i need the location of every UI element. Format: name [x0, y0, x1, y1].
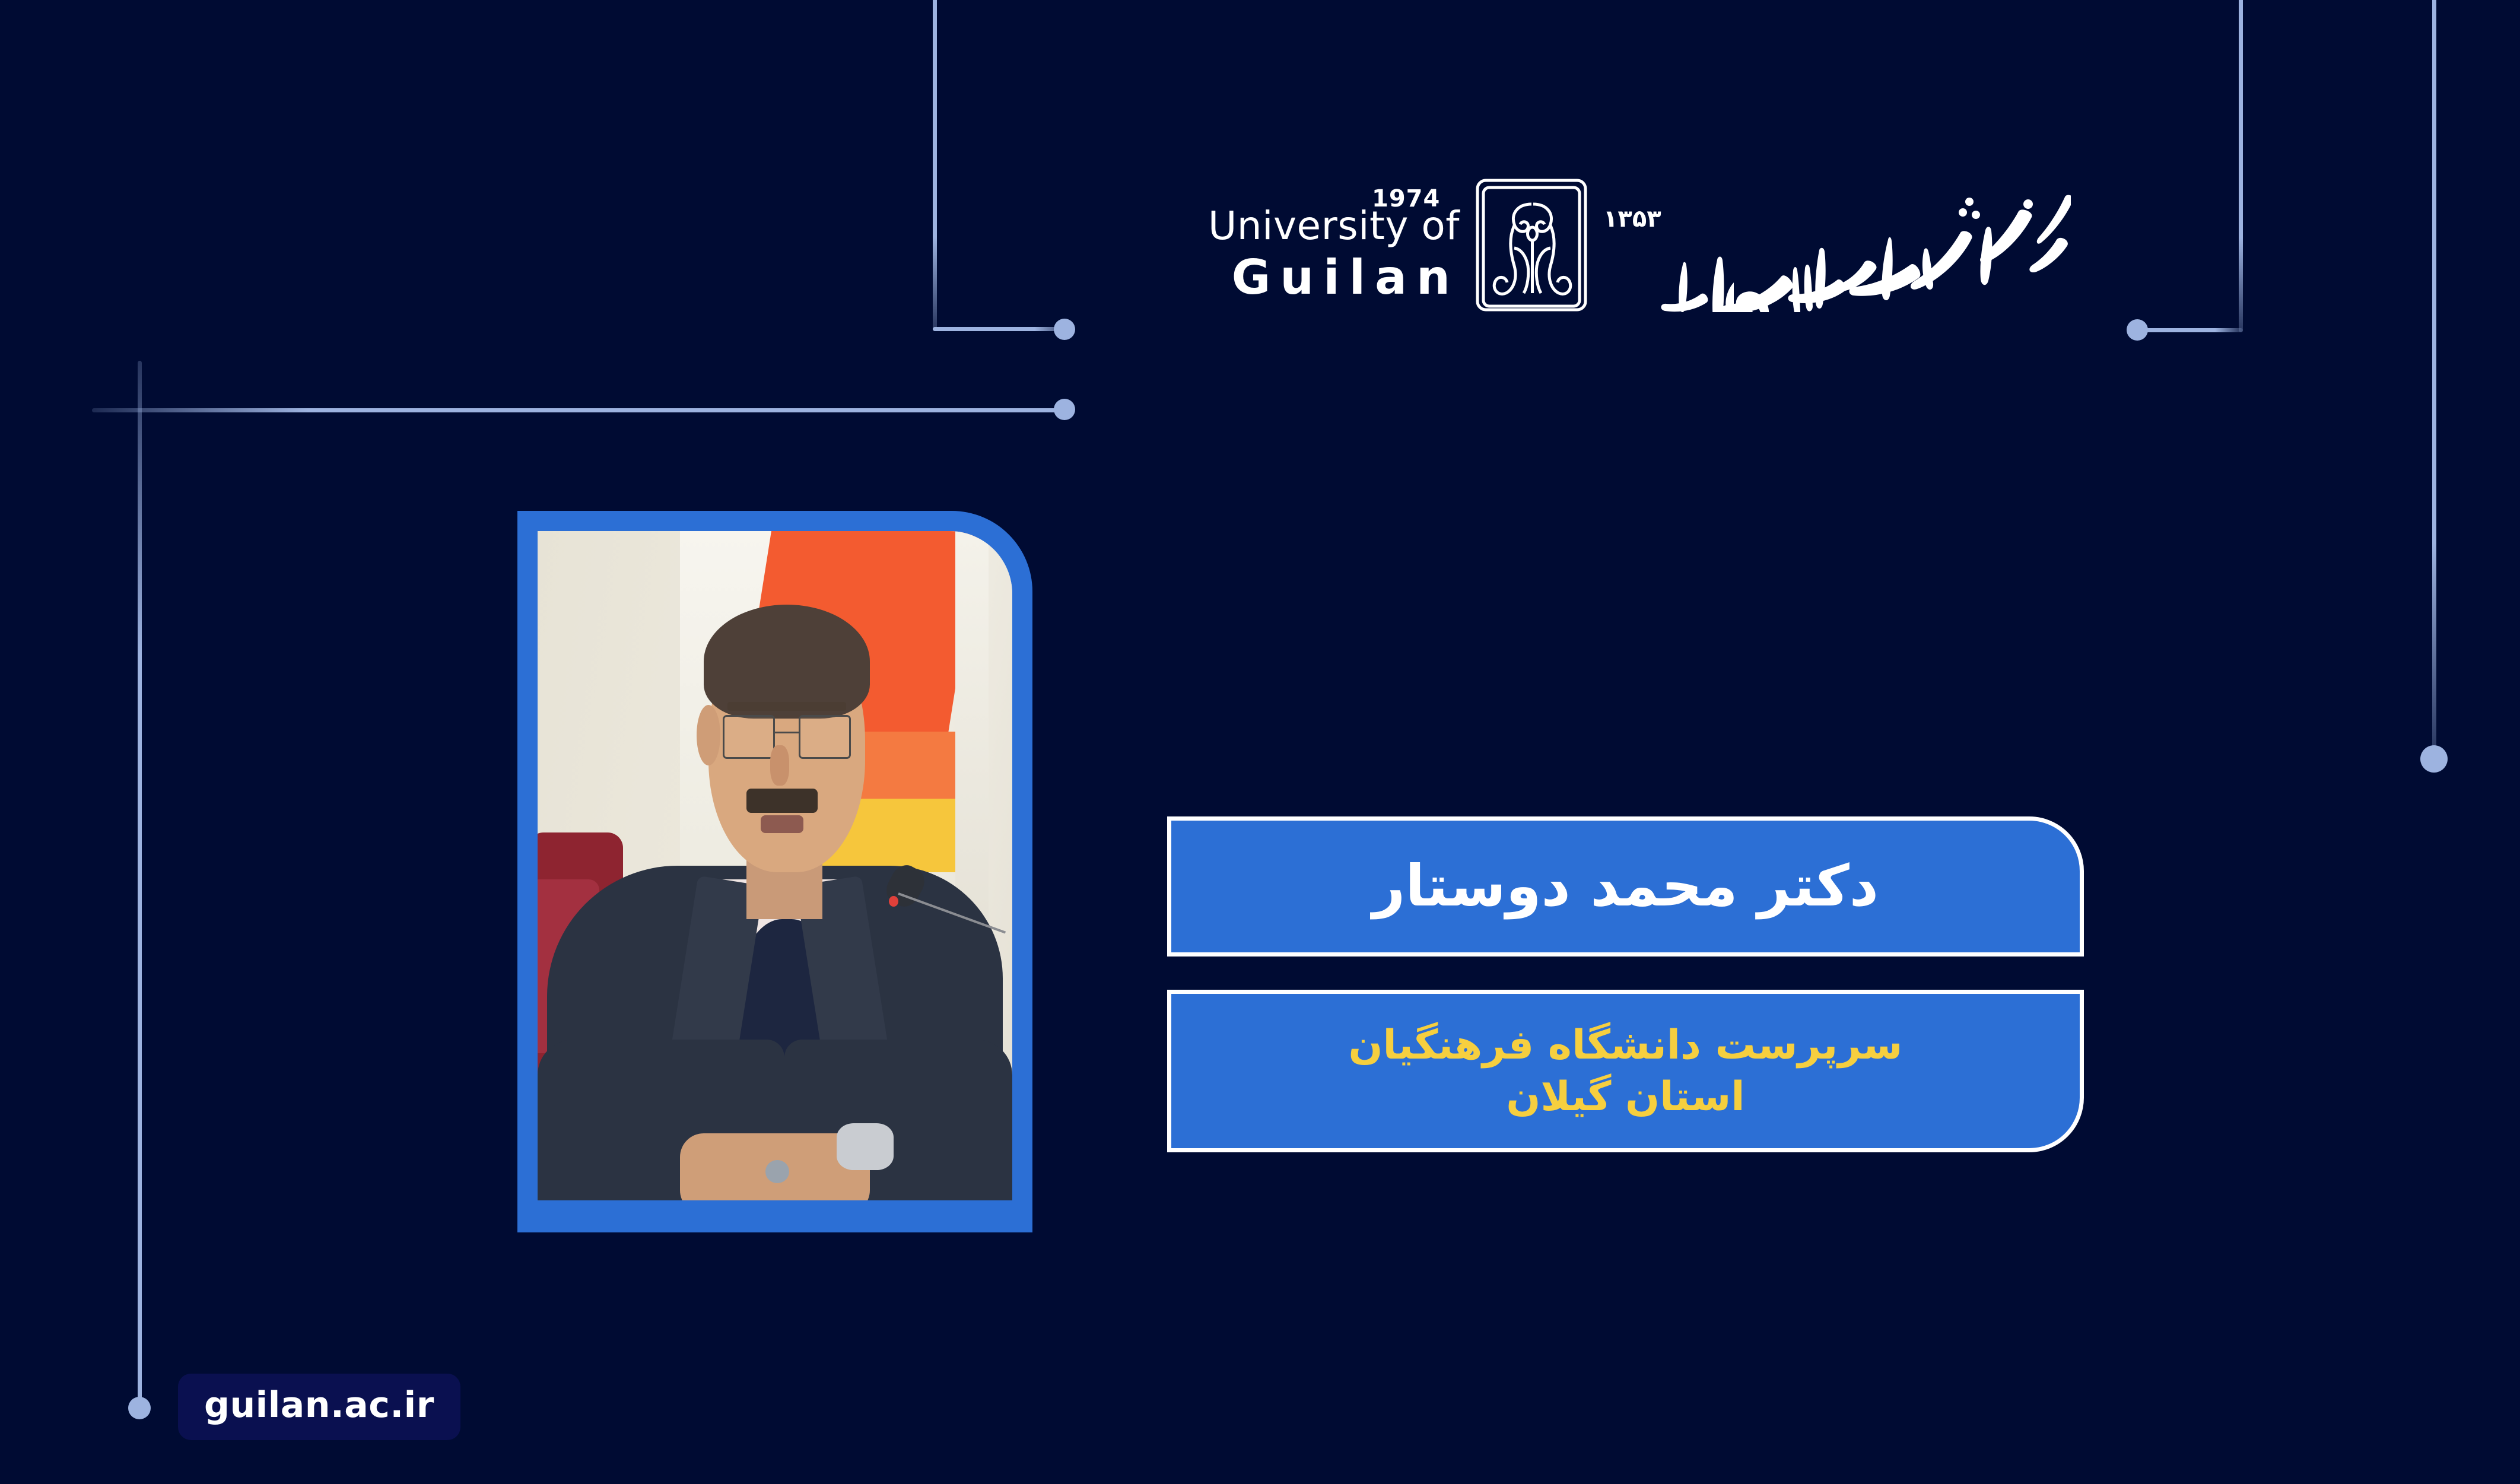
- photo-ear: [697, 705, 720, 765]
- photo-eyeglass-right: [799, 715, 851, 758]
- photo-eyeglass-left: [723, 715, 775, 758]
- logo-persian-name: [1655, 176, 2071, 312]
- photo-eyeglass-bridge: [775, 732, 799, 733]
- decor-line-top-right-horizontal: [2136, 328, 2243, 332]
- decor-dot-top-left: [1054, 319, 1075, 340]
- person-name: دکتر محمد دوستار: [1372, 855, 1879, 918]
- logo-english-name: University of Guilan: [1163, 206, 1460, 301]
- decor-dot-right-bottom: [2420, 745, 2448, 773]
- decor-dot-left-horizontal-end: [1054, 399, 1075, 420]
- person-title-banner: سرپرست دانشگاه فرهنگیان استان گیلان: [1167, 990, 2084, 1152]
- portrait-photo: [538, 531, 1012, 1200]
- decor-line-top-left-vertical: [933, 0, 937, 331]
- website-badge[interactable]: guilan.ac.ir: [178, 1374, 460, 1440]
- logo-english-line1: University of: [1163, 206, 1460, 246]
- photo-moustache: [746, 789, 818, 813]
- logo-year-persian: ۱۳۵۳: [1603, 205, 1661, 233]
- photo-microphone-indicator: [889, 896, 898, 907]
- decor-line-right-vertical: [2432, 0, 2436, 757]
- photo-wristwatch: [837, 1123, 894, 1170]
- person-title-line2: استان گیلان: [1506, 1071, 1744, 1123]
- portrait-photo-frame: [517, 511, 1032, 1232]
- person-name-banner: دکتر محمد دوستار: [1167, 816, 2084, 957]
- photo-mouth: [761, 815, 803, 832]
- decor-line-top-left-horizontal: [933, 327, 1070, 331]
- photo-ring: [765, 1160, 789, 1183]
- decor-line-left-horizontal: [92, 408, 1072, 412]
- decor-dot-left-bottom: [128, 1397, 151, 1419]
- university-logo: 1974 University of Guilan ۱۳۵۳: [1163, 190, 2089, 338]
- person-title-line1: سرپرست دانشگاه فرهنگیان: [1349, 1019, 1903, 1071]
- poster-canvas: 1974 University of Guilan ۱۳۵۳: [0, 0, 2520, 1484]
- decor-dot-top-right: [2127, 319, 2148, 341]
- decor-line-top-right-vertical: [2239, 0, 2243, 332]
- logo-english-line2: Guilan: [1163, 254, 1460, 301]
- decor-line-left-vertical: [138, 361, 142, 1410]
- photo-eyebrows: [727, 702, 846, 711]
- guilan-university-emblem-icon: [1472, 177, 1593, 313]
- photo-nose: [770, 745, 789, 786]
